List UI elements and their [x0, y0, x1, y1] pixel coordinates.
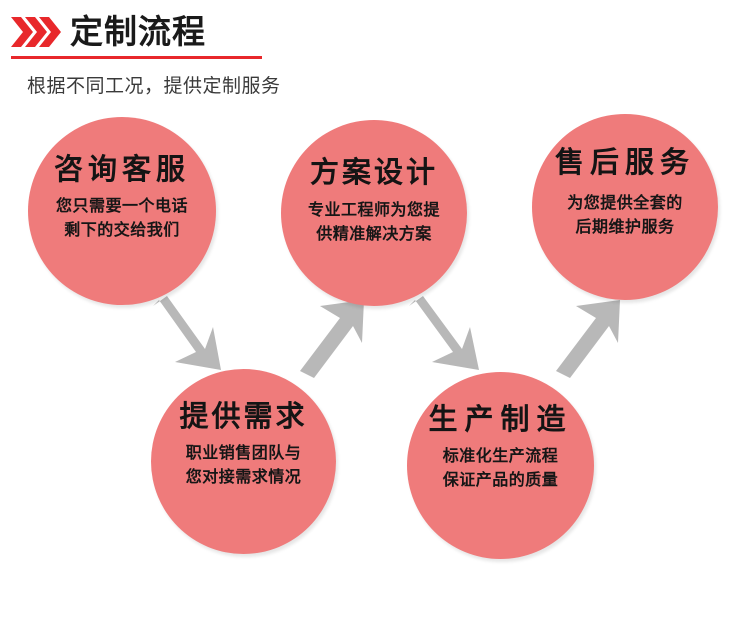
flow-node-description: 职业销售团队与 您对接需求情况	[186, 442, 302, 488]
flow-node-description-line: 剩下的交给我们	[56, 219, 188, 242]
flow-node-description: 标准化生产流程 保证产品的质量	[443, 445, 559, 491]
flow-node-description-line: 您对接需求情况	[186, 466, 302, 489]
flow-node-description-line: 保证产品的质量	[443, 469, 559, 492]
flow-node-description: 专业工程师为您提 供精准解决方案	[308, 199, 440, 245]
flow-node-description-line: 专业工程师为您提	[308, 199, 440, 222]
flow-node-title: 售后服务	[555, 148, 695, 178]
flow-node-description-line: 后期维护服务	[567, 216, 683, 239]
flow-node-title: 生产制造	[428, 405, 572, 435]
arrow-up-right-icon-2	[540, 298, 620, 378]
flow-node-production-manufacturing[interactable]: 生产制造 标准化生产流程 保证产品的质量	[407, 372, 594, 559]
flow-node-title: 咨询客服	[54, 155, 190, 185]
flow-node-description-line: 供精准解决方案	[308, 223, 440, 246]
custom-process-flow-diagram: 咨询客服 您只需要一个电话 剩下的交给我们 方案设计 专业工程师为您提 供精准解…	[0, 0, 750, 623]
flow-node-title: 提供需求	[179, 402, 307, 432]
flow-node-description-line: 为您提供全套的	[567, 192, 683, 215]
arrow-down-right-icon-1	[149, 296, 221, 378]
flow-node-description: 为您提供全套的 后期维护服务	[567, 192, 683, 238]
flow-node-title: 方案设计	[310, 158, 438, 188]
flow-node-solution-design[interactable]: 方案设计 专业工程师为您提 供精准解决方案	[281, 120, 467, 306]
flow-node-description-line: 您只需要一个电话	[56, 195, 188, 218]
flow-node-description: 您只需要一个电话 剩下的交给我们	[56, 195, 188, 241]
arrow-up-right-icon-1	[284, 298, 364, 378]
flow-node-after-sales-service[interactable]: 售后服务 为您提供全套的 后期维护服务	[532, 114, 718, 300]
arrow-down-right-icon-2	[405, 296, 479, 378]
flow-node-description-line: 职业销售团队与	[186, 442, 302, 465]
flow-node-description-line: 标准化生产流程	[443, 445, 559, 468]
flow-node-consult-service[interactable]: 咨询客服 您只需要一个电话 剩下的交给我们	[28, 117, 216, 305]
flow-node-provide-requirements[interactable]: 提供需求 职业销售团队与 您对接需求情况	[151, 369, 336, 554]
